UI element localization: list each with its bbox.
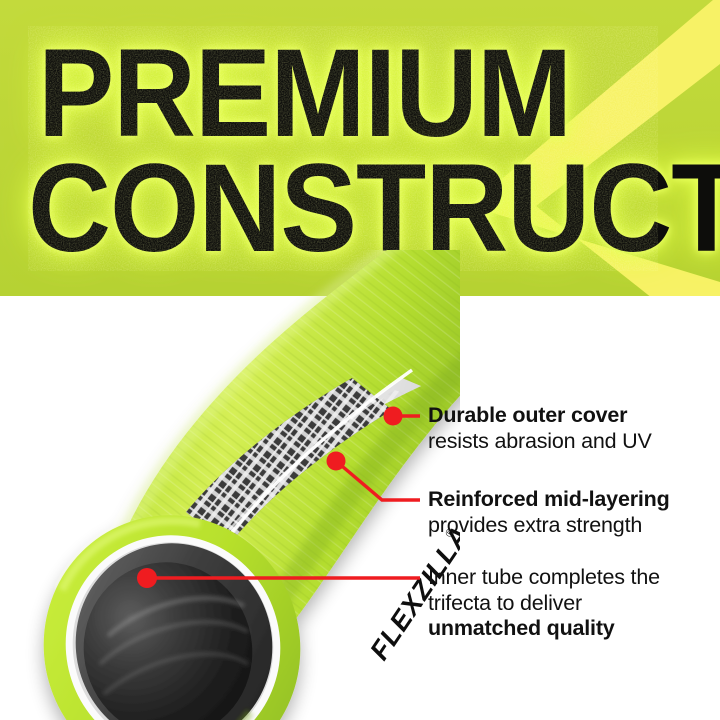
callout-inner-tube-line2: trifecta to deliver (428, 591, 660, 617)
callout-inner-tube-bold: unmatched quality (428, 616, 660, 642)
callout-outer-cover: Durable outer cover resists abrasion and… (428, 403, 652, 454)
callout-mid-layering-body: provides extra strength (428, 513, 670, 539)
infographic-canvas: PREMIUM CONSTRUCTION (0, 0, 720, 720)
hose-cutaway-illustration: FLEXZILLA ® (0, 250, 460, 720)
callout-inner-tube-line1: Inner tube completes the (428, 565, 660, 591)
callout-inner-tube: Inner tube completes the trifecta to del… (428, 565, 660, 642)
callout-outer-cover-body: resists abrasion and UV (428, 429, 652, 455)
callout-mid-layering: Reinforced mid-layering provides extra s… (428, 487, 670, 538)
callout-outer-cover-bold: Durable outer cover (428, 403, 652, 429)
callout-mid-layering-bold: Reinforced mid-layering (428, 487, 670, 513)
